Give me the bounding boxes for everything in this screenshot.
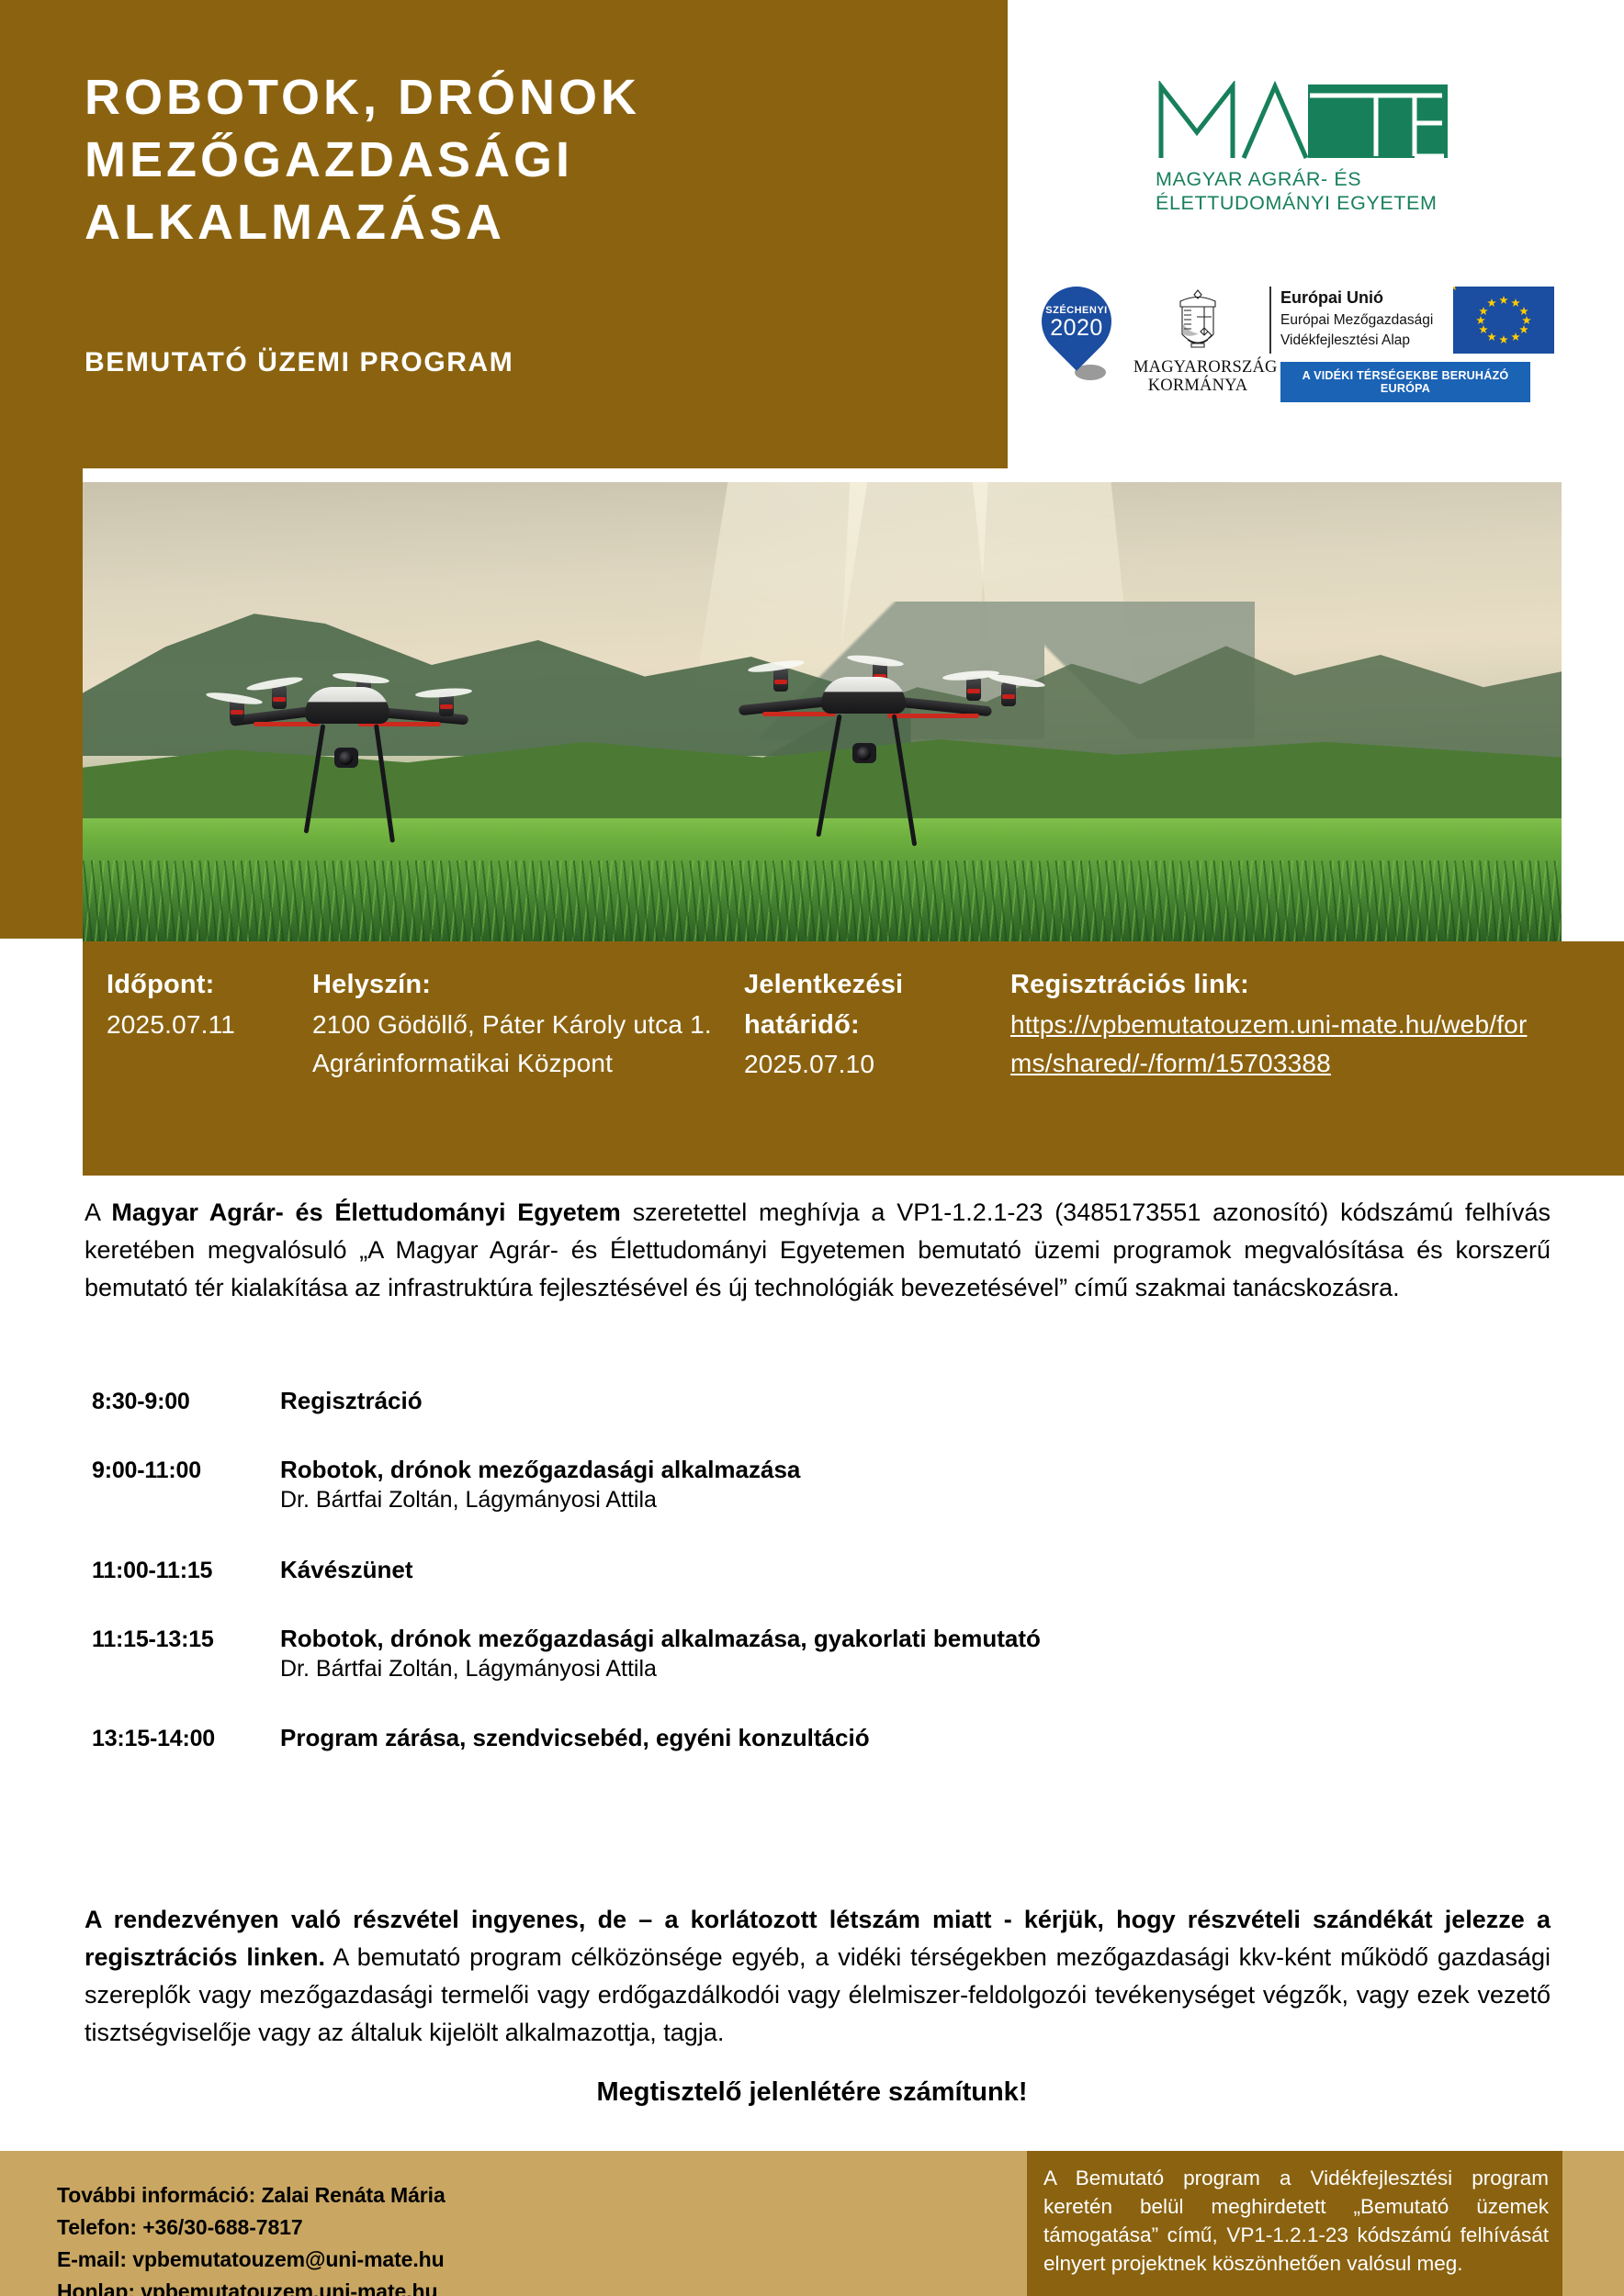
drone-led-strip (762, 712, 836, 716)
footer-funding-note: A Bemutató program a Vidékfejlesztési pr… (1043, 2164, 1549, 2278)
eu-logo-top: Európai Unió Európai Mezőgazdasági Vidék… (1269, 287, 1554, 354)
drone-camera-gimbal (334, 748, 358, 768)
schedule-content: Robotok, drónok mezőgazdasági alkalmazás… (280, 1625, 1562, 1683)
intro-paragraph: A Magyar Agrár- és Élettudományi Egyetem… (85, 1194, 1551, 1307)
intro-university-name: Magyar Agrár- és Élettudományi Egyetem (111, 1199, 620, 1226)
drone-leg (374, 724, 395, 842)
drone-leg (816, 715, 841, 838)
schedule-time: 13:15-14:00 (92, 1724, 280, 1752)
eu-text-lines: Európai Unió Európai Mezőgazdasági Vidék… (1280, 287, 1446, 351)
program-schedule: 8:30-9:00 Regisztráció 9:00-11:00 Roboto… (92, 1387, 1562, 1793)
deadline-label: Jelentkezési határidő: (744, 965, 996, 1045)
footer-contact-info: További információ: Zalai Renáta Mária T… (57, 2179, 445, 2296)
schedule-row: 11:15-13:15 Robotok, drónok mezőgazdaság… (92, 1625, 1562, 1683)
szechenyi-pin-text: SZÉCHENYI 2020 (1040, 305, 1113, 342)
participation-notice: A rendezvényen való részvétel ingyenes, … (85, 1901, 1551, 2052)
info-place-column: Helyszín: 2100 Gödöllő, Páter Károly utc… (312, 965, 744, 1176)
mate-logo: MAGYAR AGRÁR- ÉS ÉLETTUDOMÁNYI EGYETEM (1156, 81, 1468, 216)
mate-logo-wordmark: MAGYAR AGRÁR- ÉS ÉLETTUDOMÁNYI EGYETEM (1156, 168, 1468, 216)
deadline-value: 2025.07.10 (744, 1045, 996, 1084)
schedule-content: Robotok, drónok mezőgazdasági alkalmazás… (280, 1456, 1562, 1514)
drone-led-strip (887, 714, 979, 718)
hungary-government-logo: MAGYARORSZÁG KORMÁNYA (1133, 287, 1262, 396)
eu-line-3: Vidékfejlesztési Alap (1280, 331, 1446, 351)
schedule-time: 11:15-13:15 (92, 1625, 280, 1653)
schedule-title: Kávészünet (280, 1556, 1562, 1584)
schedule-title: Robotok, drónok mezőgazdasági alkalmazás… (280, 1625, 1562, 1653)
schedule-content: Kávészünet (280, 1556, 1562, 1584)
date-label: Időpont: (107, 965, 298, 1006)
eu-funding-logo: Európai Unió Európai Mezőgazdasági Vidék… (1269, 287, 1554, 402)
drone-motor (272, 685, 287, 709)
date-value: 2025.07.11 (107, 1006, 298, 1044)
left-accent-strip (0, 468, 83, 939)
schedule-row: 9:00-11:00 Robotok, drónok mezőgazdasági… (92, 1456, 1562, 1514)
drone-field-photo (83, 482, 1562, 941)
hungarian-coat-of-arms-icon (1171, 287, 1224, 355)
page-title: ROBOTOK, DRÓNOK MEZŐGAZDASÁGI ALKALMAZÁS… (85, 66, 966, 253)
schedule-row: 13:15-14:00 Program zárása, szendvicsebé… (92, 1724, 1562, 1752)
eu-flag-icon (1453, 287, 1554, 354)
info-registration-column: Regisztrációs link: https://vpbemutatouz… (1010, 965, 1562, 1176)
schedule-speaker: Dr. Bártfai Zoltán, Lágymányosi Attila (280, 1655, 1562, 1683)
eu-divider (1269, 287, 1271, 354)
info-date-column: Időpont: 2025.07.11 (83, 965, 312, 1176)
info-deadline-column: Jelentkezési határidő: 2025.07.10 (744, 965, 1010, 1176)
drone-right (726, 640, 1093, 888)
drone-body (305, 687, 389, 724)
schedule-row: 11:00-11:15 Kávészünet (92, 1556, 1562, 1584)
closing-line: Megtisztelő jelenlétére számítunk! (0, 2077, 1624, 2108)
place-label: Helyszín: (312, 965, 729, 1006)
drone-motor (966, 677, 981, 701)
schedule-time: 8:30-9:00 (92, 1387, 280, 1415)
drone-leg (892, 715, 918, 847)
eu-line-2: Európai Mezőgazdasági (1280, 310, 1446, 331)
funding-logo-row: SZÉCHENYI 2020 MAGYARORSZÁG KORMÁNYA (1040, 287, 1554, 415)
schedule-time: 11:00-11:15 (92, 1556, 280, 1584)
drone-left (220, 652, 570, 882)
schedule-speaker: Dr. Bártfai Zoltán, Lágymányosi Attila (280, 1486, 1562, 1514)
registration-link-label: Regisztrációs link: (1010, 965, 1547, 1006)
drone-camera-gimbal (852, 743, 876, 763)
mate-logomark-icon (1156, 81, 1453, 160)
page-subtitle: BEMUTATÓ ÜZEMI PROGRAM (85, 347, 513, 378)
schedule-title: Robotok, drónok mezőgazdasági alkalmazás… (280, 1456, 1562, 1484)
drone-motor (1001, 682, 1016, 706)
poster-root: ROBOTOK, DRÓNOK MEZŐGAZDASÁGI ALKALMAZÁS… (0, 0, 1624, 2296)
place-value: 2100 Gödöllő, Páter Károly utca 1. Agrár… (312, 1006, 729, 1083)
intro-part-1: A (85, 1199, 111, 1226)
schedule-content: Program zárása, szendvicsebéd, egyéni ko… (280, 1724, 1562, 1752)
event-info-bar: Időpont: 2025.07.11 Helyszín: 2100 Gödöl… (83, 941, 1624, 1176)
drone-propeller (988, 672, 1046, 690)
drone-body (821, 677, 906, 714)
drone-motor (773, 668, 788, 692)
schedule-content: Regisztráció (280, 1387, 1562, 1415)
schedule-title: Regisztráció (280, 1387, 1562, 1415)
szechenyi-2020-logo: SZÉCHENYI 2020 (1040, 287, 1119, 406)
registration-link[interactable]: https://vpbemutatouzem.uni-mate.hu/web/f… (1010, 1006, 1547, 1083)
schedule-time: 9:00-11:00 (92, 1456, 280, 1484)
schedule-row: 8:30-9:00 Regisztráció (92, 1387, 1562, 1415)
eu-line-1: Európai Unió (1280, 287, 1446, 310)
eu-investing-banner: A VIDÉKI TÉRSÉGEKBE BERUHÁZÓ EURÓPA (1280, 362, 1530, 402)
schedule-title: Program zárása, szendvicsebéd, egyéni ko… (280, 1724, 1562, 1752)
government-name: MAGYARORSZÁG KORMÁNYA (1133, 358, 1262, 396)
szechenyi-year: 2020 (1040, 315, 1113, 342)
drone-leg (304, 724, 326, 833)
